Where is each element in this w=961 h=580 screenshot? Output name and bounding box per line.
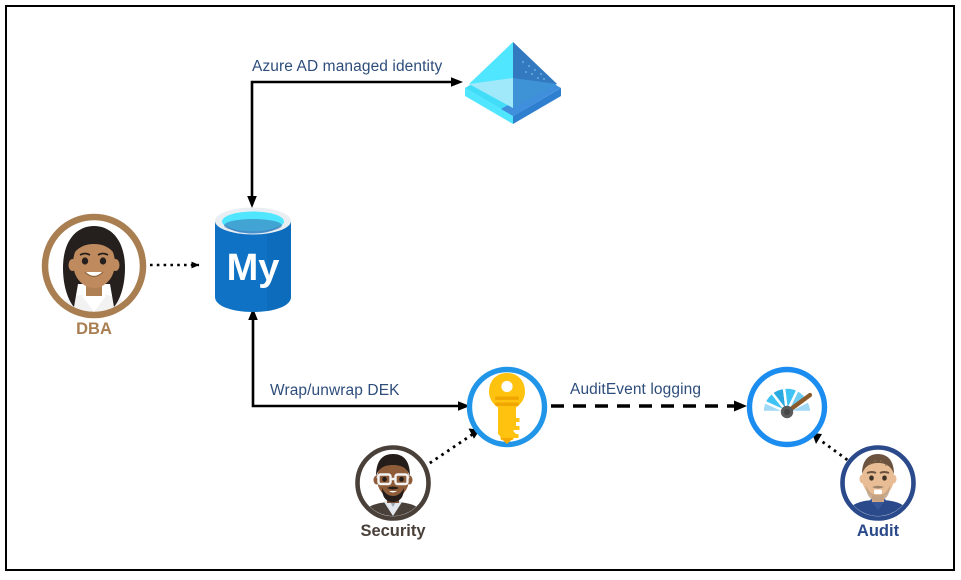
diagram-canvas: MySQL (dotted) --> Azure AD (solid elbow… xyxy=(0,0,961,580)
node-label-security: Security xyxy=(339,522,447,541)
dba-person-avatar-icon xyxy=(40,212,148,320)
azure-monitor-gauge-icon xyxy=(746,366,828,448)
edge-mysql-to-azuread xyxy=(247,77,463,208)
security-person-avatar-icon xyxy=(354,444,432,522)
edge-label-azure-ad-managed-identity: Azure AD managed identity xyxy=(252,58,442,76)
edge-label-wrap-unwrap-dek: Wrap/unwrap DEK xyxy=(270,382,400,400)
audit-person-avatar-icon xyxy=(839,444,917,522)
node-dba[interactable]: DBA xyxy=(40,212,148,320)
node-label-dba: DBA xyxy=(40,320,148,339)
mysql-wordmark: My xyxy=(227,247,280,289)
azure-mysql-database-icon: My xyxy=(205,205,301,313)
node-key-vault[interactable] xyxy=(466,366,548,448)
node-label-audit: Audit xyxy=(824,522,932,541)
key-vault-key-icon xyxy=(466,366,548,448)
node-azure-monitor[interactable] xyxy=(746,366,828,448)
node-security[interactable]: Security xyxy=(354,444,432,522)
node-audit[interactable]: Audit xyxy=(839,444,917,522)
node-azure-active-directory[interactable] xyxy=(459,36,567,128)
edge-keyvault-to-monitor xyxy=(551,401,747,412)
edge-label-auditevent-logging: AuditEvent logging xyxy=(570,381,701,399)
azure-active-directory-icon xyxy=(459,36,567,128)
node-mysql-database[interactable]: My xyxy=(205,205,301,313)
